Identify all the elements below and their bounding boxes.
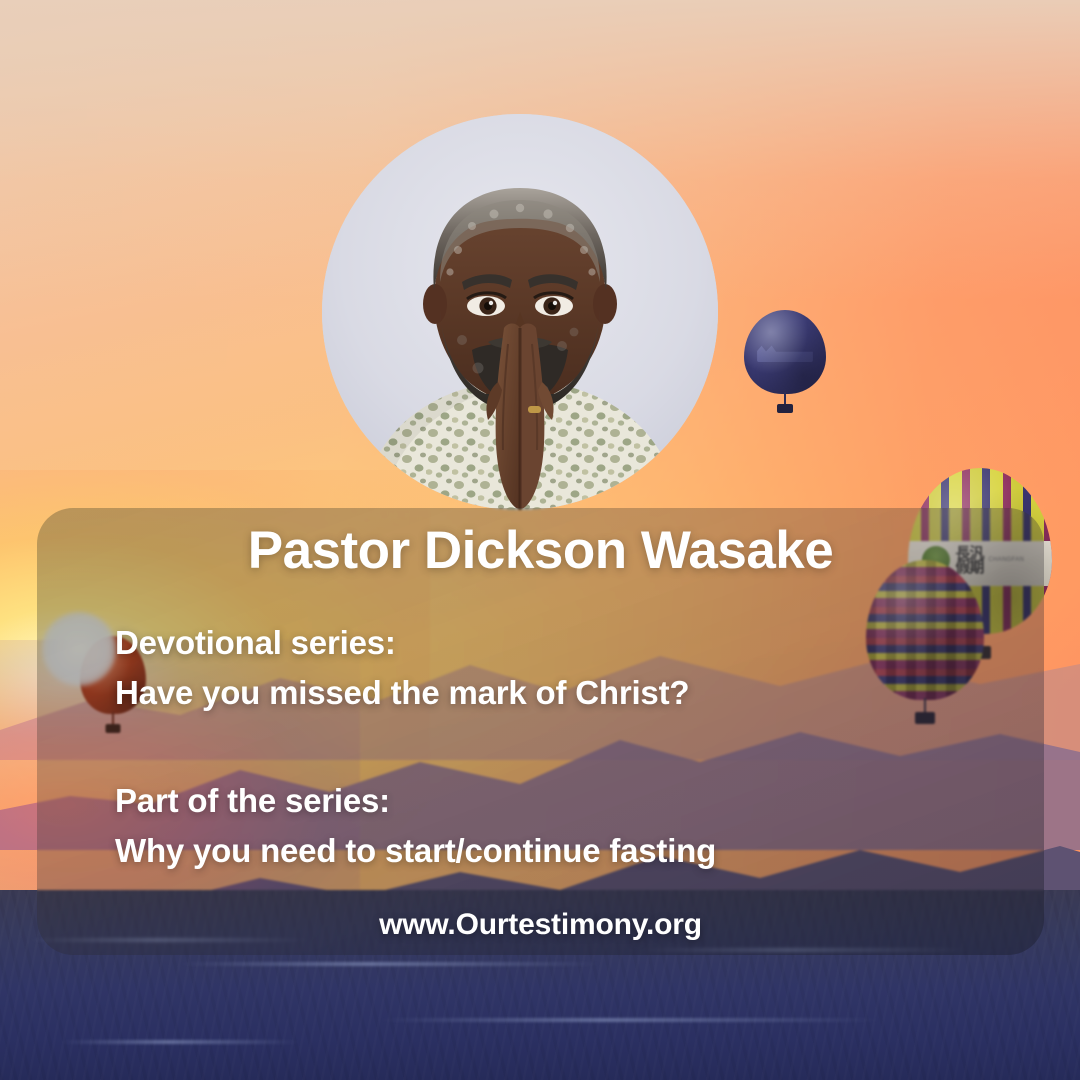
avatar [322, 114, 718, 510]
valley-streak [180, 962, 600, 966]
voyage-logo-icon [757, 344, 813, 362]
part-value: Why you need to start/continue fasting [115, 826, 984, 876]
series-value: Have you missed the mark of Christ? [115, 668, 984, 718]
valley-streak [380, 1018, 880, 1022]
voyage-balloon [744, 310, 826, 394]
series-label: Devotional series: [115, 618, 984, 668]
devotional-series-block: Devotional series: Have you missed the m… [115, 618, 984, 718]
valley-streak [60, 1040, 300, 1044]
website-url[interactable]: www.Ourtestimony.org [37, 908, 1044, 942]
content-card: Pastor Dickson Wasake Devotional series:… [37, 508, 1044, 955]
part-of-series-block: Part of the series: Why you need to star… [115, 776, 984, 876]
page-title: Pastor Dickson Wasake [37, 520, 1044, 581]
social-media-poster: 長汎 假期 CHANGFAN [0, 0, 1080, 1080]
part-label: Part of the series: [115, 776, 984, 826]
